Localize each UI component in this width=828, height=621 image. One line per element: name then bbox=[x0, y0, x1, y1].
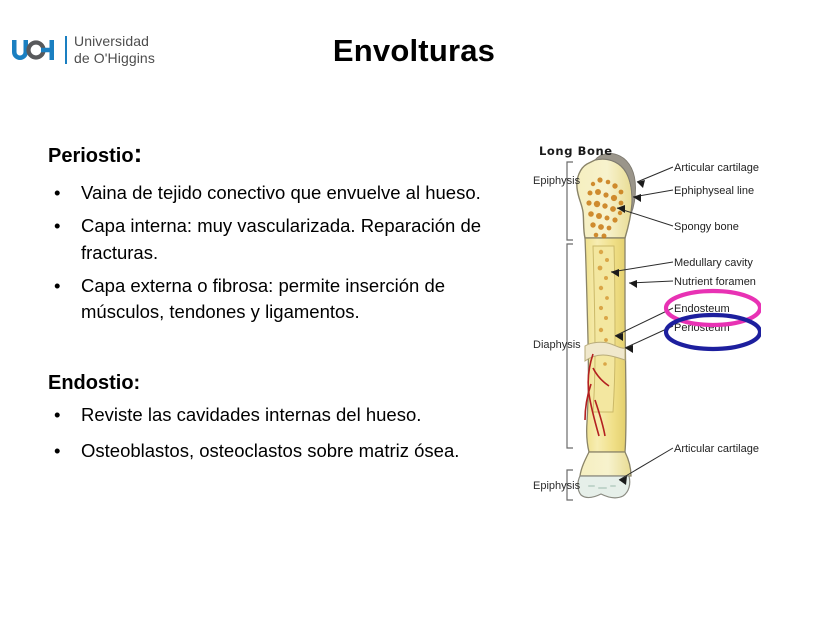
label-spongy-bone: Spongy bone bbox=[674, 221, 739, 233]
list-item-text: Reviste las cavidades internas del hueso… bbox=[81, 404, 421, 425]
periostio-heading-colon: : bbox=[134, 138, 143, 168]
label-diaphysis: Diaphysis bbox=[533, 339, 581, 351]
label-nutrient-foramen: Nutrient foramen bbox=[674, 276, 756, 288]
content-column: Periostio: •Vaina de tejido conectivo qu… bbox=[48, 144, 518, 473]
long-bone-illustration: Epiphysis Diaphysis Epiphysis bbox=[533, 140, 761, 508]
periostio-heading-text: Periostio bbox=[48, 145, 134, 167]
endostio-heading: Endostio: bbox=[48, 371, 518, 395]
callout-labels: Articular cartilage Ephiphyseal line Spo… bbox=[674, 162, 759, 455]
medullary-cavity-shape bbox=[593, 246, 615, 412]
bone-body bbox=[577, 153, 636, 497]
region-brackets bbox=[567, 162, 573, 500]
label-medullary-cavity: Medullary cavity bbox=[674, 257, 753, 269]
label-articular-cartilage-bottom: Articular cartilage bbox=[674, 443, 759, 455]
list-item-text: Capa interna: muy vascularizada. Reparac… bbox=[81, 215, 481, 262]
long-bone-diagram: Long Bone bbox=[533, 140, 761, 508]
label-epiphyseal-line: Ephiphyseal line bbox=[674, 185, 754, 197]
label-articular-cartilage-top: Articular cartilage bbox=[674, 162, 759, 174]
list-item: •Capa interna: muy vascularizada. Repara… bbox=[48, 213, 518, 266]
bullet-icon: • bbox=[54, 180, 60, 206]
list-item: •Osteoblastos, osteoclastos sobre matriz… bbox=[48, 438, 518, 464]
label-epiphysis-bottom: Epiphysis bbox=[533, 480, 581, 492]
label-epiphysis-top: Epiphysis bbox=[533, 175, 581, 187]
epiphysis-bottom-shape bbox=[580, 452, 631, 476]
bullet-icon: • bbox=[54, 402, 60, 428]
list-item: •Capa externa o fibrosa: permite inserci… bbox=[48, 273, 518, 326]
periostio-heading: Periostio: bbox=[48, 144, 518, 168]
periostio-bullet-list: •Vaina de tejido conectivo que envuelve … bbox=[48, 180, 518, 325]
list-item: •Vaina de tejido conectivo que envuelve … bbox=[48, 180, 518, 206]
list-item-text: Vaina de tejido conectivo que envuelve a… bbox=[81, 182, 481, 203]
epiphysis-top-shape bbox=[577, 159, 632, 238]
list-item-text: Osteoblastos, osteoclastos sobre matriz … bbox=[81, 440, 459, 461]
list-item-text: Capa externa o fibrosa: permite inserció… bbox=[81, 275, 445, 322]
list-item: •Reviste las cavidades internas del hues… bbox=[48, 402, 518, 428]
bullet-icon: • bbox=[54, 273, 60, 299]
endostio-bullet-list: •Reviste las cavidades internas del hues… bbox=[48, 402, 518, 464]
figure-caption: Long Bone bbox=[539, 144, 613, 158]
page-title: Envolturas bbox=[0, 33, 828, 69]
region-labels: Epiphysis Diaphysis Epiphysis bbox=[533, 175, 581, 492]
bullet-icon: • bbox=[54, 438, 60, 464]
bullet-icon: • bbox=[54, 213, 60, 239]
